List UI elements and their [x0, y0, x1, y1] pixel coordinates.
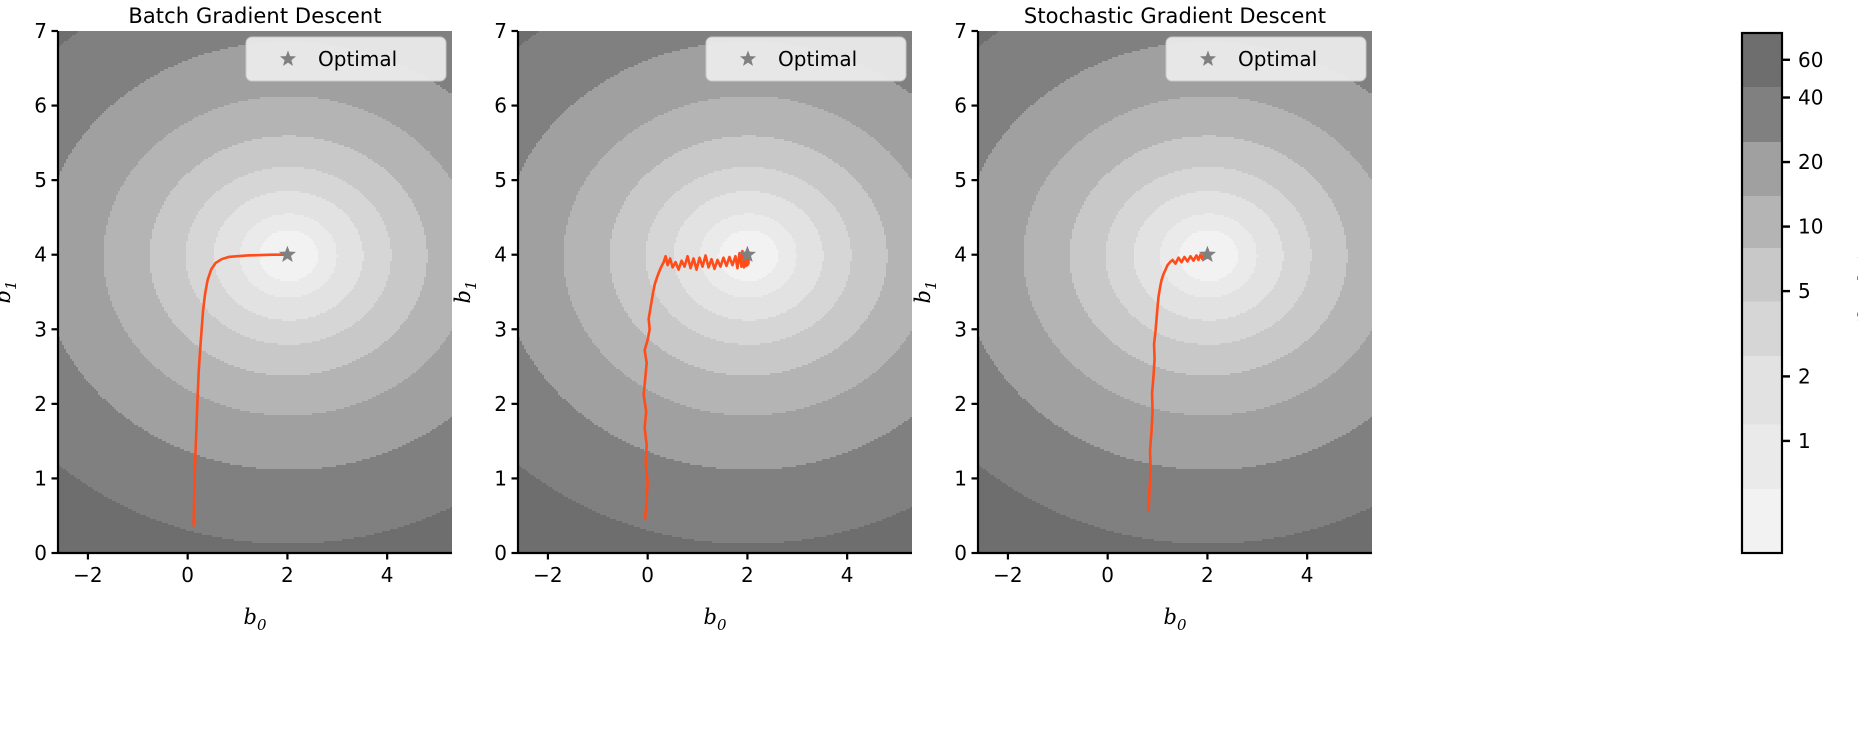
y-tick-label: 4	[34, 243, 47, 267]
y-tick-label: 4	[494, 243, 507, 267]
colorbar-tick-label: 2	[1798, 364, 1811, 388]
contour-band	[1372, 329, 1373, 332]
y-tick-label: 2	[954, 392, 967, 416]
y-tick-label: 2	[494, 392, 507, 416]
axes-group-0: −202401234567b0b1Optimal	[0, 19, 453, 634]
contour-field-2	[978, 31, 1373, 554]
legend-2[interactable]: Optimal	[1166, 37, 1366, 81]
colorbar-band	[1742, 424, 1782, 489]
y-tick-label: 1	[954, 466, 967, 490]
colorbar-band	[1742, 301, 1782, 356]
y-tick-label: 3	[494, 317, 507, 341]
y-tick-label: 6	[494, 94, 507, 118]
colorbar-tick-label: 40	[1798, 86, 1823, 110]
legend-1[interactable]: Optimal	[706, 37, 906, 81]
plot-svg-root: −202401234567b0b1Optimal−202401234567b0b…	[0, 0, 1858, 736]
colorbar-band	[1742, 141, 1782, 195]
contour-band	[1372, 93, 1373, 96]
y-axis-title-group: b1	[0, 281, 20, 304]
contour-band	[1372, 181, 1373, 184]
x-axis-title-sub: 0	[717, 616, 727, 634]
figure-canvas: Batch Gradient Descent Stochastic Gradie…	[0, 0, 1858, 736]
colorbar-band	[1742, 33, 1782, 87]
x-tick-label: 0	[181, 563, 194, 587]
x-tick-label: −2	[533, 563, 562, 587]
y-tick-label: 7	[34, 19, 47, 43]
x-tick-label: −2	[73, 563, 102, 587]
y-tick-label: 2	[34, 392, 47, 416]
y-tick-label: 0	[494, 541, 507, 565]
colorbar-tick-label: 10	[1798, 215, 1823, 239]
y-tick-label: 5	[494, 168, 507, 192]
y-axis-title-sub: 1	[922, 281, 940, 291]
y-axis-title: b1	[911, 281, 940, 304]
x-tick-label: 4	[1301, 563, 1314, 587]
contour-band	[452, 179, 453, 182]
contour-band	[912, 179, 913, 182]
legend-label: Optimal	[778, 47, 857, 71]
x-tick-label: 4	[841, 563, 854, 587]
contour-band	[912, 415, 913, 418]
contour-field-0	[58, 31, 453, 554]
y-tick-label: 1	[494, 466, 507, 490]
y-tick-label: 4	[954, 243, 967, 267]
colorbar-group: 12510204060J(b0, b1)	[1742, 33, 1858, 554]
y-tick-label: 6	[954, 94, 967, 118]
contour-band	[912, 93, 913, 96]
y-tick-label: 6	[34, 94, 47, 118]
contour-band	[912, 181, 913, 184]
y-tick-label: 5	[954, 168, 967, 192]
colorbar-band	[1742, 87, 1782, 142]
legend-label: Optimal	[1238, 47, 1317, 71]
y-tick-label: 7	[494, 19, 507, 43]
contour-band	[452, 415, 453, 418]
x-tick-label: 2	[1201, 563, 1214, 587]
y-tick-label: 3	[34, 317, 47, 341]
y-tick-label: 1	[34, 466, 47, 490]
y-tick-label: 5	[34, 168, 47, 192]
x-tick-label: −2	[993, 563, 1022, 587]
colorbar-band	[1742, 247, 1782, 301]
colorbar-band	[1742, 356, 1782, 425]
x-axis-title: b0	[244, 605, 267, 634]
contour-band	[1372, 415, 1373, 418]
x-tick-label: 0	[1101, 563, 1114, 587]
contour-band	[452, 181, 453, 184]
y-tick-label: 0	[954, 541, 967, 565]
colorbar-tick-label: 1	[1798, 429, 1811, 453]
x-tick-label: 2	[741, 563, 754, 587]
contour-band	[452, 93, 453, 96]
x-axis-title-sub: 0	[257, 616, 267, 634]
contour-band	[452, 329, 453, 332]
colorbar-tick-label: 60	[1798, 48, 1823, 72]
x-axis-title: b0	[704, 605, 727, 634]
x-axis-title-sub: 0	[1177, 616, 1187, 634]
x-tick-label: 4	[381, 563, 394, 587]
legend-label: Optimal	[318, 47, 397, 71]
x-tick-label: 2	[281, 563, 294, 587]
y-axis-title-sub: 1	[462, 281, 480, 291]
y-tick-label: 7	[954, 19, 967, 43]
axes-group-1: −202401234567b0b1Optimal	[451, 19, 913, 634]
x-axis-title: b0	[1164, 605, 1187, 634]
y-axis-title-group: b1	[451, 281, 480, 304]
legend-0[interactable]: Optimal	[246, 37, 446, 81]
colorbar-tick-label: 5	[1798, 279, 1811, 303]
y-axis-title-group: b1	[911, 281, 940, 304]
x-tick-label: 0	[641, 563, 654, 587]
y-axis-title: b1	[451, 281, 480, 304]
y-axis-title: b1	[0, 281, 20, 304]
y-tick-label: 0	[34, 541, 47, 565]
y-axis-title-sub: 1	[2, 281, 20, 291]
colorbar-band	[1742, 195, 1782, 248]
colorbar-tick-label: 20	[1798, 150, 1823, 174]
contour-band	[1372, 179, 1373, 182]
colorbar-band	[1742, 488, 1782, 553]
axes-group-2: −202401234567b0b1Optimal	[911, 19, 1373, 634]
y-tick-label: 3	[954, 317, 967, 341]
contour-field-1	[518, 31, 913, 554]
contour-band	[912, 329, 913, 332]
